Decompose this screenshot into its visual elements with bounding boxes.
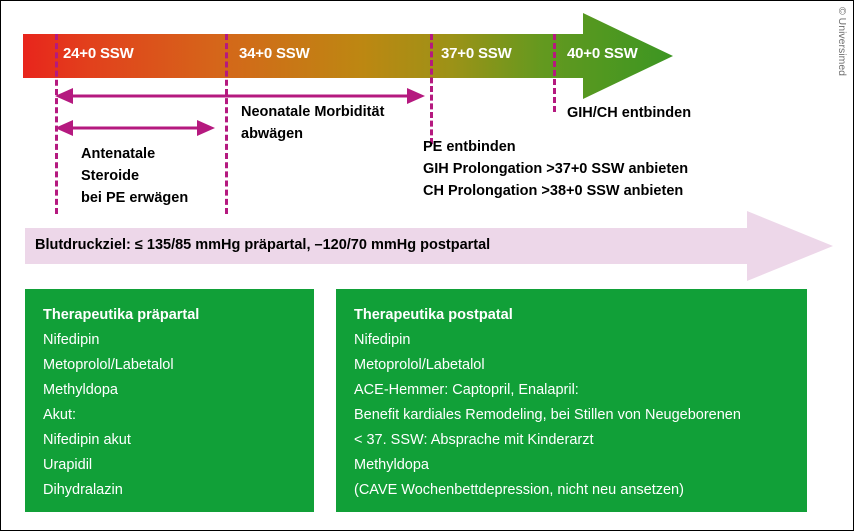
note-antenatal-line-2: Steroide bbox=[81, 165, 188, 187]
milestone-label-37: 37+0 SSW bbox=[441, 45, 512, 62]
therapy-postpartal-item: Nifedipin bbox=[354, 328, 807, 353]
therapy-postpartal-item: ACE-Hemmer: Captopril, Enalapril: bbox=[354, 378, 807, 403]
note-gih-ch-delivery: GIH/CH entbinden bbox=[567, 102, 691, 124]
note-neonatal-morbidity: Neonatale Morbidität abwägen bbox=[241, 101, 384, 145]
note-pe-line-2: GIH Prolongation >37+0 SSW anbieten bbox=[423, 158, 688, 180]
dashed-guide-34 bbox=[225, 34, 228, 214]
therapy-prepartal-item: Metoprolol/Labetalol bbox=[43, 353, 314, 378]
therapy-postpartal-item: Benefit kardiales Remodeling, bei Stille… bbox=[354, 403, 807, 428]
copyright-text: © Universimed bbox=[836, 7, 848, 76]
infographic-canvas: 24+0 SSW 34+0 SSW 37+0 SSW 40+0 SSW Neon… bbox=[0, 0, 854, 531]
milestone-label-24: 24+0 SSW bbox=[63, 45, 134, 62]
therapy-box-prepartal: Therapeutika präpartal Nifedipin Metopro… bbox=[25, 289, 314, 512]
blood-pressure-target-text: Blutdruckziel: ≤ 135/85 mmHg präpartal, … bbox=[35, 237, 490, 253]
milestone-label-40: 40+0 SSW bbox=[567, 45, 638, 62]
dashed-guide-40 bbox=[553, 34, 556, 112]
therapy-postpartal-item: Methyldopa bbox=[354, 453, 807, 478]
note-pe-delivery: PE entbinden GIH Prolongation >37+0 SSW … bbox=[423, 136, 688, 202]
note-antenatal-steroids: Antenatale Steroide bei PE erwägen bbox=[81, 143, 188, 209]
note-antenatal-line-1: Antenatale bbox=[81, 143, 188, 165]
note-pe-line-1: PE entbinden bbox=[423, 136, 688, 158]
therapy-postpartal-item: < 37. SSW: Absprache mit Kinderarzt bbox=[354, 428, 807, 453]
copyright-credit: © Universimed bbox=[836, 7, 850, 127]
note-neonatal-line-2: abwägen bbox=[241, 123, 384, 145]
therapy-prepartal-item: Nifedipin bbox=[43, 328, 314, 353]
therapy-prepartal-item: Urapidil bbox=[43, 453, 314, 478]
milestone-label-34: 34+0 SSW bbox=[239, 45, 310, 62]
note-pe-line-3: CH Prolongation >38+0 SSW anbieten bbox=[423, 180, 688, 202]
therapy-prepartal-item: Nifedipin akut bbox=[43, 428, 314, 453]
therapy-postpartal-title: Therapeutika postpatal bbox=[354, 303, 807, 328]
note-gihch-line-1: GIH/CH entbinden bbox=[567, 102, 691, 124]
therapy-postpartal-item: Metoprolol/Labetalol bbox=[354, 353, 807, 378]
therapy-postpartal-item: (CAVE Wochenbettdepression, nicht neu an… bbox=[354, 478, 807, 503]
note-antenatal-line-3: bei PE erwägen bbox=[81, 187, 188, 209]
therapy-prepartal-item: Methyldopa bbox=[43, 378, 314, 403]
therapy-prepartal-item: Dihydralazin bbox=[43, 478, 314, 503]
therapy-box-postpartal: Therapeutika postpatal Nifedipin Metopro… bbox=[336, 289, 807, 512]
dashed-guide-37 bbox=[430, 34, 433, 144]
note-neonatal-line-1: Neonatale Morbidität bbox=[241, 101, 384, 123]
therapy-prepartal-item: Akut: bbox=[43, 403, 314, 428]
antenatal-steroids-range-arrow bbox=[55, 117, 215, 144]
therapy-prepartal-title: Therapeutika präpartal bbox=[43, 303, 314, 328]
